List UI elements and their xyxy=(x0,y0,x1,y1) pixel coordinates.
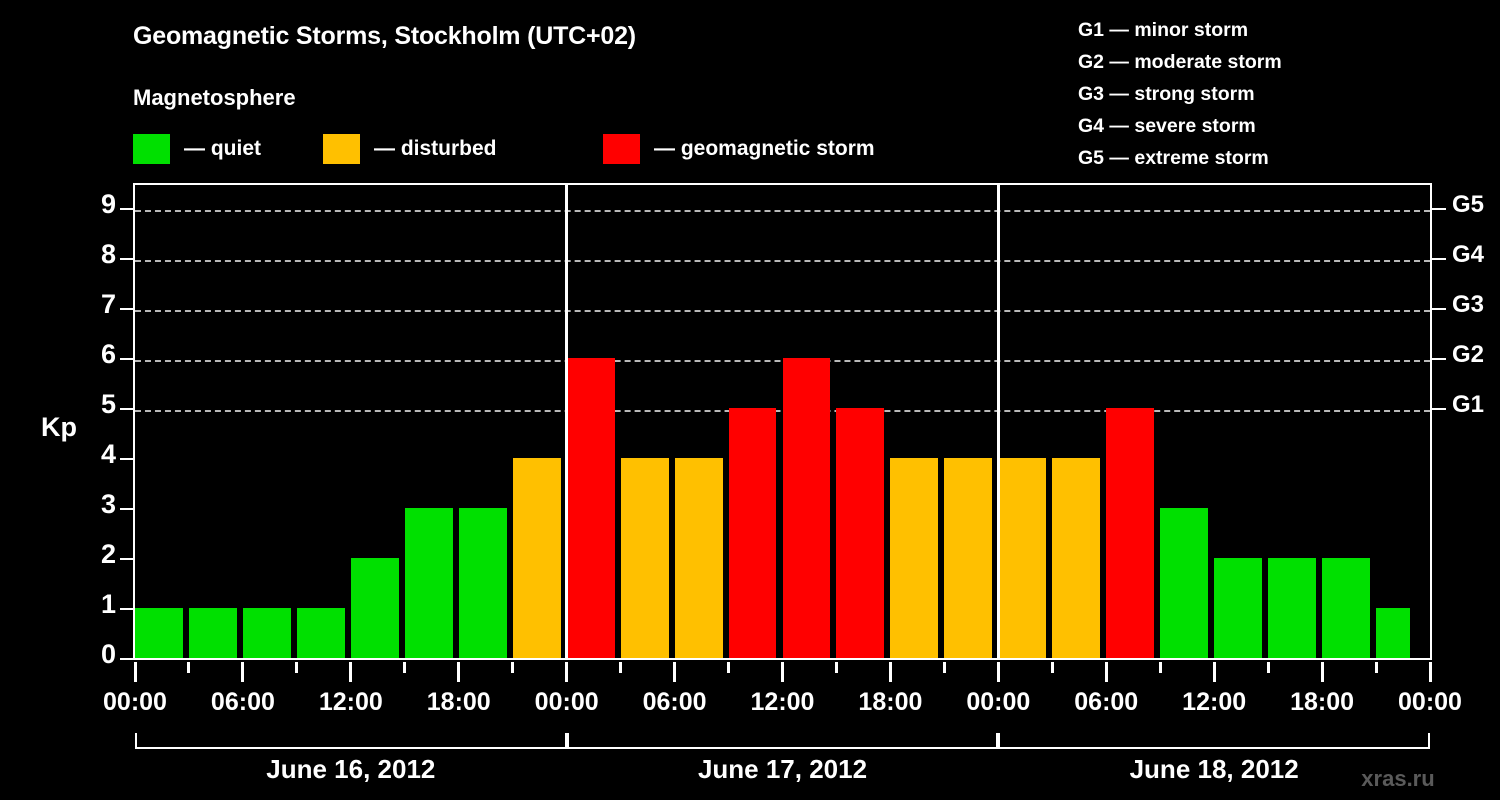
x-tick-9 xyxy=(619,662,622,673)
g-tick-mark-G4 xyxy=(1432,258,1446,260)
x-tick-22 xyxy=(1321,662,1324,682)
y-tick-label-3: 3 xyxy=(76,489,116,520)
x-tick-label-6: 12:00 xyxy=(751,688,815,717)
bar-15 xyxy=(944,458,992,658)
g-tick-label-G5: G5 xyxy=(1452,191,1484,219)
gridline-kp-8 xyxy=(135,260,1430,262)
x-tick-label-4: 00:00 xyxy=(535,688,599,717)
legend-item-geomagnetic-storm: — geomagnetic storm xyxy=(603,134,875,164)
x-tick-8 xyxy=(565,662,568,682)
g-tick-label-G3: G3 xyxy=(1452,291,1484,319)
g-scale-line-3: G3 — strong storm xyxy=(1078,78,1282,110)
day-bracket-3 xyxy=(998,733,1430,749)
x-tick-12 xyxy=(781,662,784,682)
x-tick-3 xyxy=(295,662,298,673)
bar-7 xyxy=(513,458,561,658)
x-tick-label-11: 18:00 xyxy=(1290,688,1354,717)
bar-1 xyxy=(189,608,237,658)
bar-18 xyxy=(1106,408,1154,658)
g-tick-label-G2: G2 xyxy=(1452,341,1484,369)
y-tick-label-6: 6 xyxy=(76,339,116,370)
gridline-kp-7 xyxy=(135,310,1430,312)
plot-area xyxy=(133,183,1432,660)
legend-swatch-disturbed xyxy=(323,134,360,164)
y-tick-label-7: 7 xyxy=(76,289,116,320)
x-tick-19 xyxy=(1159,662,1162,673)
y-tick-label-4: 4 xyxy=(76,439,116,470)
bar-9 xyxy=(621,458,669,658)
x-tick-13 xyxy=(835,662,838,673)
magnetosphere-label: Magnetosphere xyxy=(133,85,296,111)
bar-11 xyxy=(729,408,777,658)
y-tick-mark-1 xyxy=(120,608,133,610)
bar-19 xyxy=(1160,508,1208,658)
y-axis-title: Kp xyxy=(41,412,77,443)
y-tick-label-2: 2 xyxy=(76,539,116,570)
day-divider-2 xyxy=(997,185,1000,658)
y-tick-label-1: 1 xyxy=(76,589,116,620)
x-tick-4 xyxy=(349,662,352,682)
legend-swatch-quiet xyxy=(133,134,170,164)
x-tick-11 xyxy=(727,662,730,673)
bar-3 xyxy=(297,608,345,658)
bar-8 xyxy=(567,358,615,658)
legend-swatch-geomagnetic-storm xyxy=(603,134,640,164)
bar-23 xyxy=(1376,608,1410,658)
x-tick-label-10: 12:00 xyxy=(1182,688,1246,717)
x-tick-label-12: 00:00 xyxy=(1398,688,1462,717)
x-tick-6 xyxy=(457,662,460,682)
day-label-3: June 18, 2012 xyxy=(1130,754,1299,785)
g-scale-line-4: G4 — severe storm xyxy=(1078,110,1282,142)
plot-inner xyxy=(135,185,1430,658)
y-tick-label-5: 5 xyxy=(76,389,116,420)
y-tick-mark-3 xyxy=(120,508,133,510)
g-scale-line-5: G5 — extreme storm xyxy=(1078,142,1282,174)
bar-14 xyxy=(890,458,938,658)
g-scale-legend: G1 — minor stormG2 — moderate stormG3 — … xyxy=(1078,14,1282,174)
x-tick-24 xyxy=(1429,662,1432,682)
g-tick-mark-G3 xyxy=(1432,308,1446,310)
g-scale-line-2: G2 — moderate storm xyxy=(1078,46,1282,78)
x-tick-1 xyxy=(187,662,190,673)
x-tick-label-3: 18:00 xyxy=(427,688,491,717)
bar-2 xyxy=(243,608,291,658)
x-tick-label-1: 06:00 xyxy=(211,688,275,717)
x-tick-label-7: 18:00 xyxy=(858,688,922,717)
watermark: xras.ru xyxy=(1361,766,1434,792)
g-tick-label-G1: G1 xyxy=(1452,391,1484,419)
bar-5 xyxy=(405,508,453,658)
bar-17 xyxy=(1052,458,1100,658)
x-tick-7 xyxy=(511,662,514,673)
x-tick-23 xyxy=(1375,662,1378,673)
g-tick-mark-G5 xyxy=(1432,208,1446,210)
x-tick-16 xyxy=(997,662,1000,682)
g-tick-mark-G2 xyxy=(1432,358,1446,360)
y-tick-mark-5 xyxy=(120,408,133,410)
x-tick-18 xyxy=(1105,662,1108,682)
legend-label-quiet: — quiet xyxy=(184,137,261,161)
legend-label-geomagnetic-storm: — geomagnetic storm xyxy=(654,137,875,161)
x-tick-5 xyxy=(403,662,406,673)
x-tick-17 xyxy=(1051,662,1054,673)
day-bracket-2 xyxy=(567,733,999,749)
x-tick-14 xyxy=(889,662,892,682)
x-tick-label-0: 00:00 xyxy=(103,688,167,717)
bar-0 xyxy=(135,608,183,658)
x-tick-10 xyxy=(673,662,676,682)
y-tick-mark-7 xyxy=(120,308,133,310)
y-tick-mark-6 xyxy=(120,358,133,360)
bar-6 xyxy=(459,508,507,658)
day-label-1: June 16, 2012 xyxy=(266,754,435,785)
y-tick-mark-9 xyxy=(120,208,133,210)
x-tick-label-5: 06:00 xyxy=(643,688,707,717)
x-tick-0 xyxy=(134,662,137,682)
y-tick-mark-4 xyxy=(120,458,133,460)
x-tick-20 xyxy=(1213,662,1216,682)
x-tick-label-9: 06:00 xyxy=(1074,688,1138,717)
x-tick-21 xyxy=(1267,662,1270,673)
g-scale-line-1: G1 — minor storm xyxy=(1078,14,1282,46)
bar-13 xyxy=(836,408,884,658)
day-bracket-1 xyxy=(135,733,567,749)
x-tick-label-2: 12:00 xyxy=(319,688,383,717)
x-tick-2 xyxy=(241,662,244,682)
x-tick-label-8: 00:00 xyxy=(966,688,1030,717)
x-tick-15 xyxy=(943,662,946,673)
bar-4 xyxy=(351,558,399,658)
gridline-kp-9 xyxy=(135,210,1430,212)
bar-20 xyxy=(1214,558,1262,658)
bar-12 xyxy=(783,358,831,658)
bar-10 xyxy=(675,458,723,658)
y-tick-mark-0 xyxy=(120,658,133,660)
y-tick-label-0: 0 xyxy=(76,639,116,670)
legend-label-disturbed: — disturbed xyxy=(374,137,497,161)
day-divider-1 xyxy=(565,185,568,658)
bar-22 xyxy=(1322,558,1370,658)
page-title: Geomagnetic Storms, Stockholm (UTC+02) xyxy=(133,22,636,51)
bar-16 xyxy=(998,458,1046,658)
y-tick-label-9: 9 xyxy=(76,189,116,220)
y-tick-label-8: 8 xyxy=(76,239,116,270)
y-tick-mark-2 xyxy=(120,558,133,560)
g-tick-mark-G1 xyxy=(1432,408,1446,410)
day-label-2: June 17, 2012 xyxy=(698,754,867,785)
bar-21 xyxy=(1268,558,1316,658)
legend-item-quiet: — quiet xyxy=(133,134,261,164)
legend-item-disturbed: — disturbed xyxy=(323,134,497,164)
y-tick-mark-8 xyxy=(120,258,133,260)
g-tick-label-G4: G4 xyxy=(1452,241,1484,269)
